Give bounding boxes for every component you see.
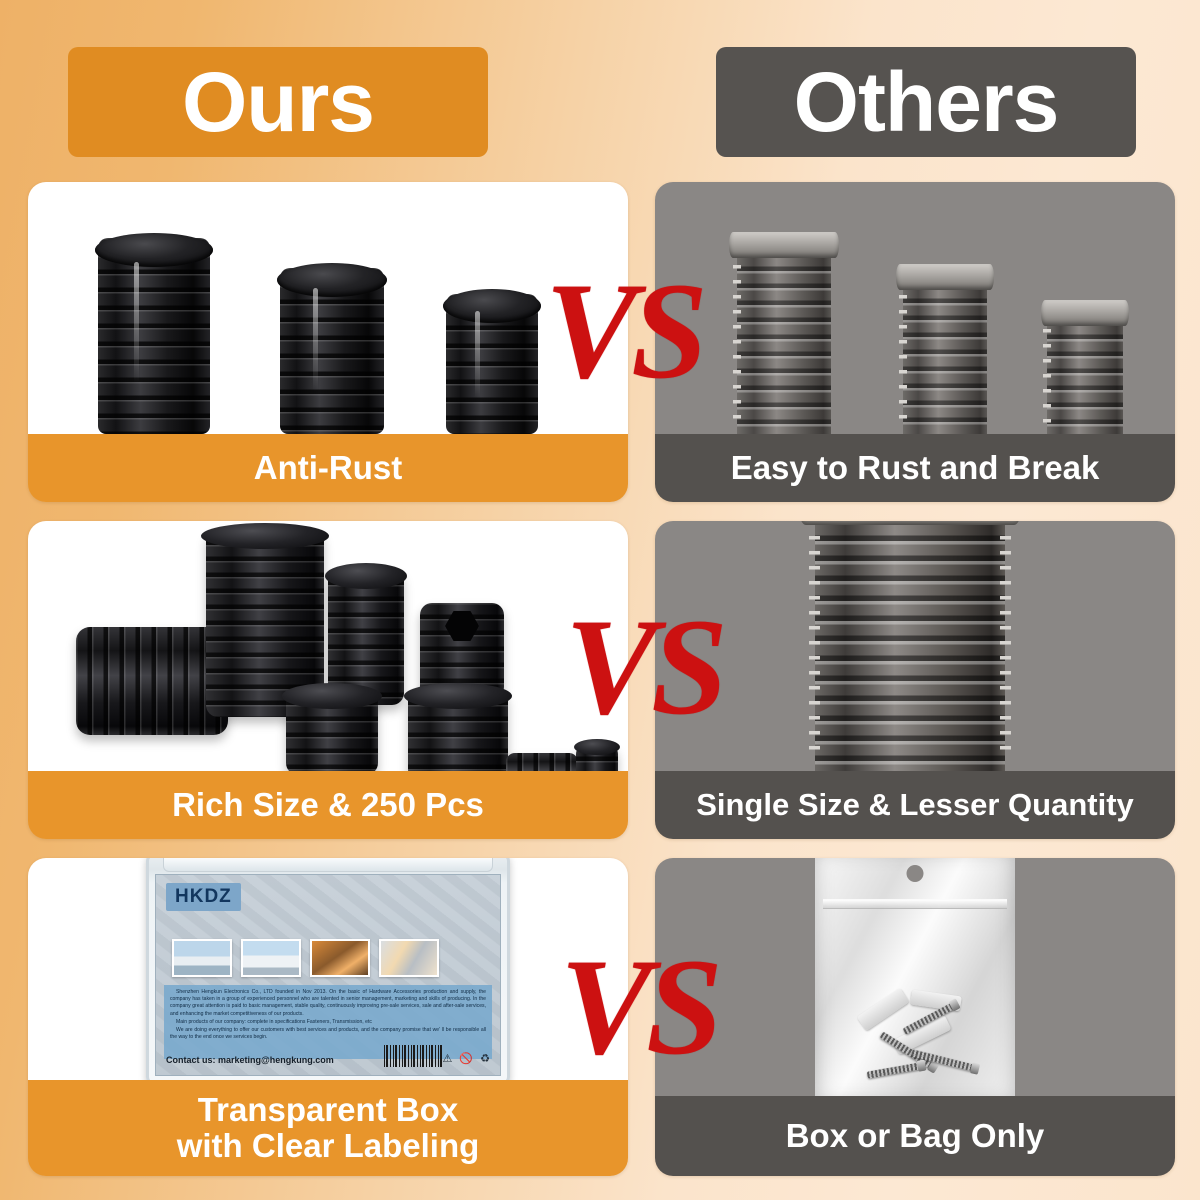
contact-line: Contact us: marketing@hengkung.com [166,1055,334,1065]
image-others-row-2 [655,521,1175,771]
comparison-grid: Anti-Rust Easy to Rust and Break [0,0,1200,1200]
black-set-screw-icon [408,689,508,771]
panel-others-row-1: Easy to Rust and Break [655,182,1175,502]
bag-zip-seal [823,899,1007,909]
plastic-bag-icon [815,858,1015,1096]
caption-others-row-2: Single Size & Lesser Quantity [655,771,1175,839]
image-ours-row-2 [28,521,628,771]
caption-ours-row-1: Anti-Rust [28,434,628,502]
black-set-screw-icon [506,753,578,771]
label-photo-strip [172,939,439,977]
image-ours-row-1 [28,182,628,434]
image-others-row-3 [655,858,1175,1096]
warehouse-photo [379,939,439,977]
rusted-screw-icon [903,286,987,434]
black-set-screw-icon [280,268,384,434]
tapping-screw-icon [867,1062,921,1078]
hkdz-logo: HKDZ [166,883,241,911]
company-description: Shenzhen Hengkun Electronics Co., LTD fo… [164,985,492,1059]
panel-ours-row-2: Rich Size & 250 Pcs [28,521,628,839]
company-paragraph: Shenzhen Hengkun Electronics Co., LTD fo… [170,989,486,1018]
panel-others-row-3: Box or Bag Only [655,858,1175,1176]
box-lid [163,858,492,872]
rusted-screw-icon [1047,322,1123,434]
transparent-box-icon: HKDZ Shenzhen Hengkun Electronics Co., L… [146,858,510,1080]
warning-marks-icon: ⚠ 🚫 ♻ [442,1052,492,1065]
factory-photo [241,939,301,977]
image-others-row-1 [655,182,1175,434]
caption-ours-row-2: Rich Size & 250 Pcs [28,771,628,839]
barcode-icon [384,1045,442,1067]
black-set-screw-icon [286,689,378,771]
bag-hang-hole [907,865,924,882]
black-set-screw-small-icon [576,745,618,771]
caption-others-row-3: Box or Bag Only [655,1096,1175,1176]
company-paragraph: Main products of our company: complete i… [170,1019,486,1026]
wall-anchor-icon [857,988,910,1031]
rusted-screw-icon [737,254,831,434]
box-label: HKDZ Shenzhen Hengkun Electronics Co., L… [155,874,501,1076]
warehouse-photo [310,939,370,977]
image-ours-row-3: HKDZ Shenzhen Hengkun Electronics Co., L… [28,858,628,1080]
hex-socket-icon [445,611,479,641]
panel-others-row-2: Single Size & Lesser Quantity [655,521,1175,839]
caption-ours-row-3-text: Transparent Box with Clear Labeling [177,1092,480,1163]
black-set-screw-icon [446,294,538,434]
black-set-screw-icon [98,238,210,434]
rusted-screw-large-icon [815,521,1005,771]
panel-ours-row-1: Anti-Rust [28,182,628,502]
company-paragraph: We are doing everything to offer our cus… [170,1027,486,1041]
caption-ours-row-3: Transparent Box with Clear Labeling [28,1080,628,1176]
caption-others-row-1: Easy to Rust and Break [655,434,1175,502]
panel-ours-row-3: HKDZ Shenzhen Hengkun Electronics Co., L… [28,858,628,1176]
factory-photo [172,939,232,977]
